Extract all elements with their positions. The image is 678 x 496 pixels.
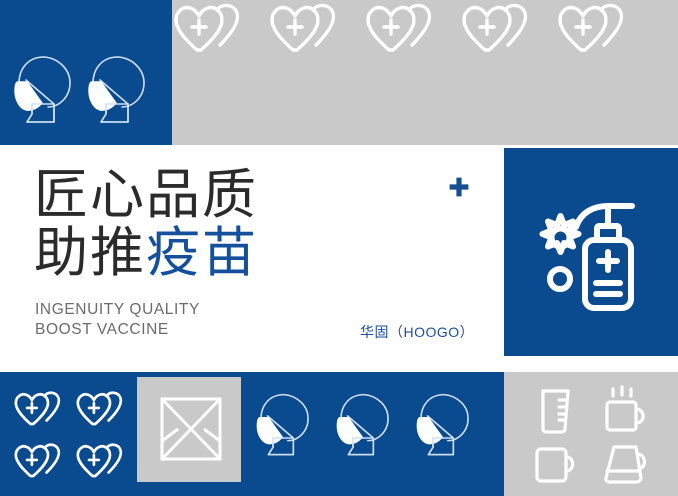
headline-block: 匠心品质 助推疫苗 (34, 166, 364, 282)
masked-head-icon (256, 390, 314, 462)
double-heart-plus-icon (75, 388, 131, 432)
headline-line-1: 匠心品质 (34, 166, 364, 224)
kettle-pitcher-icon (600, 442, 650, 488)
double-heart-plus-icon (13, 388, 69, 432)
masked-head-icon (88, 52, 150, 130)
top-left-blue-panel (0, 0, 172, 145)
double-heart-plus-icon (556, 0, 636, 60)
broken-image-placeholder-icon (160, 397, 222, 461)
english-subtitle-line-2: BOOST VACCINE (35, 320, 200, 340)
plain-mug-icon (532, 443, 578, 487)
brand-name: 华固（HOOGO） (360, 322, 474, 342)
double-heart-plus-icon (13, 440, 69, 484)
plus-icon (448, 176, 470, 198)
english-subtitle-line-1: INGENUITY QUALITY (35, 300, 200, 320)
bottom-cup-icon-grid (520, 382, 660, 492)
bottom-heart-icon-grid (12, 386, 132, 486)
headline-line-2: 助推疫苗 (34, 224, 364, 282)
double-heart-plus-icon (268, 0, 348, 60)
english-subtitle: INGENUITY QUALITY BOOST VACCINE (35, 300, 200, 340)
masked-head-icon (416, 390, 474, 462)
headline-line-2-accent: 疫苗 (146, 223, 258, 283)
double-heart-plus-icon (460, 0, 540, 60)
top-heart-icon-row (172, 0, 678, 60)
measuring-beaker-icon (535, 386, 575, 434)
double-heart-plus-icon (364, 0, 444, 60)
headline-line-2-prefix: 助推 (34, 223, 146, 283)
gap-strip-right (504, 356, 678, 372)
poster-canvas: 匠心品质 助推疫苗 INGENUITY QUALITY BOOST VACCIN… (0, 0, 678, 496)
steaming-mug-icon (601, 385, 649, 435)
bottom-mask-icon-row (256, 390, 474, 462)
masked-head-icon (14, 52, 76, 130)
double-heart-plus-icon (172, 0, 252, 60)
hand-sanitizer-bottle-icon (528, 196, 654, 318)
double-heart-plus-icon (75, 440, 131, 484)
top-mask-icon-row (14, 52, 150, 130)
top-right-gray-panel (172, 0, 678, 145)
masked-head-icon (336, 390, 394, 462)
